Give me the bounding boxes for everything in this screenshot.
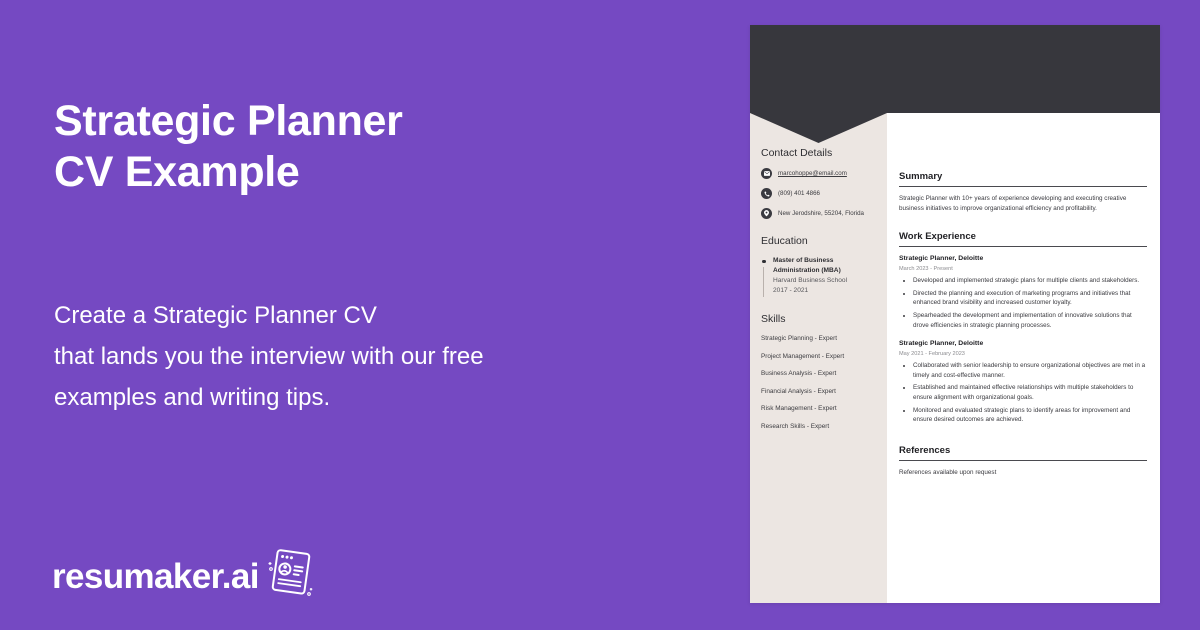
skill-item: Financial Analysis - Expert: [761, 387, 881, 396]
skill-item: Research Skills - Expert: [761, 422, 881, 431]
job-title: Strategic Planner, Deloitte: [899, 339, 1147, 349]
job-date: May 2021 - February 2023: [899, 350, 1147, 359]
education-years: 2017 - 2021: [773, 286, 881, 296]
contact-address-text: New Jerodshire, 55204, Florida: [778, 209, 864, 218]
skill-item: Risk Management - Expert: [761, 404, 881, 413]
contact-item-phone[interactable]: (809) 401 4866: [761, 188, 881, 199]
cv-header-chevron: [750, 113, 887, 143]
job-date: March 2023 - Present: [899, 265, 1147, 274]
bullet-dot-icon: [762, 260, 766, 264]
education-school: Harvard Business School: [773, 276, 881, 286]
cv-main-column: Summary Strategic Planner with 10+ years…: [887, 113, 1160, 603]
promo-title-line-2: CV Example: [54, 147, 674, 198]
skill-item: Business Analysis - Expert: [761, 369, 881, 378]
job-bullet: Spearheaded the development and implemen…: [913, 311, 1147, 330]
job-entry: Strategic Planner, Deloitte March 2023 -…: [899, 254, 1147, 330]
cv-preview-card[interactable]: Marco Hoppe Strategic Planner Contact De…: [750, 25, 1160, 603]
job-title: Strategic Planner, Deloitte: [899, 254, 1147, 264]
resumaker-logo[interactable]: resumaker.ai: [52, 548, 318, 605]
contact-email-text: marcohoppe@email.com: [778, 169, 847, 178]
cv-header: [750, 25, 1160, 113]
contact-item-address[interactable]: New Jerodshire, 55204, Florida: [761, 208, 881, 219]
cv-sidebar: Contact Details marcohoppe@email.com (80…: [750, 113, 887, 603]
skills-list: Strategic Planning - Expert Project Mana…: [761, 334, 881, 431]
envelope-icon: [761, 168, 772, 179]
promo-title: Strategic Planner CV Example: [54, 96, 674, 198]
job-bullet: Developed and implemented strategic plan…: [913, 276, 1147, 286]
skill-item: Strategic Planning - Expert: [761, 334, 881, 343]
promo-left-panel: Strategic Planner CV Example Create a St…: [0, 0, 720, 630]
promo-title-line-1: Strategic Planner: [54, 96, 674, 147]
contact-details-heading: Contact Details: [761, 147, 881, 159]
summary-heading: Summary: [899, 171, 1147, 187]
job-bullets: Collaborated with senior leadership to e…: [899, 361, 1147, 425]
contact-phone-text: (809) 401 4866: [778, 189, 820, 198]
skills-heading: Skills: [761, 313, 881, 325]
location-pin-icon: [761, 208, 772, 219]
logo-wordmark: resumaker.ai: [52, 559, 259, 594]
promo-subtitle-line-1: Create a Strategic Planner CV: [54, 295, 674, 336]
summary-text: Strategic Planner with 10+ years of expe…: [899, 194, 1147, 213]
resume-document-icon: [262, 544, 318, 605]
references-heading: References: [899, 445, 1147, 461]
education-degree: Master of Business Administration (MBA): [773, 256, 881, 275]
promo-banner: Strategic Planner CV Example Create a St…: [0, 0, 1200, 630]
work-experience-heading: Work Experience: [899, 231, 1147, 247]
job-bullets: Developed and implemented strategic plan…: [899, 276, 1147, 330]
job-bullet: Directed the planning and execution of m…: [913, 289, 1147, 308]
education-item: Master of Business Administration (MBA) …: [761, 256, 881, 295]
references-text: References available upon request: [899, 468, 1147, 478]
contact-item-email[interactable]: marcohoppe@email.com: [761, 168, 881, 179]
job-bullet: Established and maintained effective rel…: [913, 383, 1147, 402]
promo-subtitle: Create a Strategic Planner CV that lands…: [54, 295, 674, 418]
education-heading: Education: [761, 235, 881, 247]
promo-subtitle-line-3: examples and writing tips.: [54, 377, 674, 418]
job-bullet: Monitored and evaluated strategic plans …: [913, 406, 1147, 425]
job-entry: Strategic Planner, Deloitte May 2021 - F…: [899, 339, 1147, 425]
skill-item: Project Management - Expert: [761, 352, 881, 361]
promo-subtitle-line-2: that lands you the interview with our fr…: [54, 336, 674, 377]
timeline-line: [763, 267, 764, 297]
job-bullet: Collaborated with senior leadership to e…: [913, 361, 1147, 380]
phone-icon: [761, 188, 772, 199]
